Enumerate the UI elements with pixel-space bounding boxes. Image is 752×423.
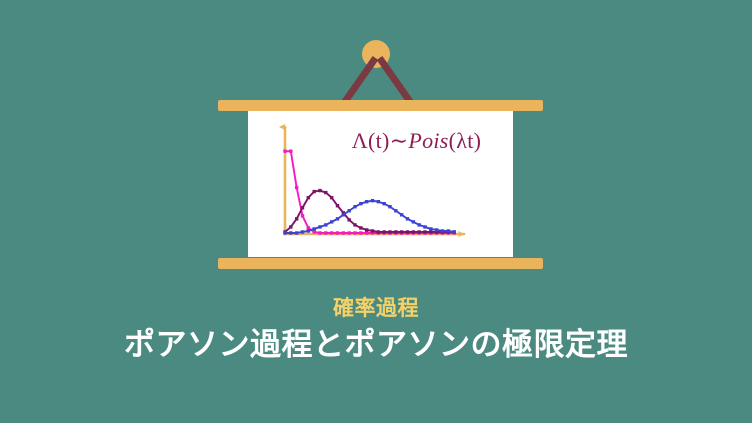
series-marker <box>447 229 450 232</box>
series-marker <box>353 223 356 226</box>
chart-series-2 <box>283 199 456 235</box>
series-marker <box>359 226 362 229</box>
series-marker <box>283 149 286 152</box>
series-marker <box>377 230 380 233</box>
series-marker <box>324 231 327 234</box>
series-marker <box>289 231 292 234</box>
caption-block: 確率過程 ポアソン過程とポアソンの極限定理 <box>0 296 752 365</box>
series-marker <box>394 209 397 212</box>
slide-subtitle: 確率過程 <box>0 296 752 322</box>
series-marker <box>417 223 420 226</box>
series-marker <box>388 205 391 208</box>
series-marker <box>342 213 345 216</box>
series-marker <box>417 230 420 233</box>
series-marker <box>307 226 310 229</box>
series-marker <box>295 231 298 234</box>
series-marker <box>377 200 380 203</box>
formula-tilde: ∼ <box>390 128 409 153</box>
series-marker <box>347 218 350 221</box>
series-marker <box>318 231 321 234</box>
series-marker <box>330 196 333 199</box>
series-marker <box>324 191 327 194</box>
series-line <box>285 151 454 233</box>
series-marker <box>347 209 350 212</box>
whiteboard-rail-bottom <box>218 258 543 269</box>
series-marker <box>342 231 345 234</box>
series-marker <box>301 230 304 233</box>
series-line <box>285 201 454 233</box>
series-marker <box>406 230 409 233</box>
series-marker <box>301 214 304 217</box>
formula-distribution: Pois <box>408 128 448 153</box>
poisson-pmf-chart: Λ(t)∼Pois(λt) <box>248 110 513 257</box>
chart-series-layer <box>283 149 456 234</box>
series-marker <box>423 230 426 233</box>
series-marker <box>318 225 321 228</box>
series-marker <box>336 217 339 220</box>
series-marker <box>295 217 298 220</box>
series-marker <box>423 225 426 228</box>
series-marker <box>330 231 333 234</box>
series-marker <box>394 230 397 233</box>
series-marker <box>353 231 356 234</box>
series-marker <box>429 227 432 230</box>
series-marker <box>324 223 327 226</box>
series-marker <box>359 202 362 205</box>
series-marker <box>365 231 368 234</box>
slide-card: Λ(t)∼Pois(λt) 確率過程 ポアソン過程とポアソンの極限定理 <box>0 0 752 423</box>
series-marker <box>289 149 292 152</box>
series-marker <box>307 196 310 199</box>
series-line <box>285 191 454 232</box>
series-marker <box>359 231 362 234</box>
board-formula: Λ(t)∼Pois(λt) <box>324 128 509 154</box>
easel-illustration: Λ(t)∼Pois(λt) <box>0 0 752 285</box>
series-marker <box>412 220 415 223</box>
series-marker <box>330 220 333 223</box>
series-marker <box>318 189 321 192</box>
series-marker <box>388 230 391 233</box>
series-marker <box>295 186 298 189</box>
series-marker <box>400 213 403 216</box>
series-marker <box>429 230 432 233</box>
series-marker <box>365 228 368 231</box>
easel-leg-left-icon <box>341 56 379 106</box>
series-marker <box>312 230 315 233</box>
series-marker <box>371 199 374 202</box>
formula-lambda-process: Λ(t) <box>352 128 390 153</box>
series-marker <box>353 205 356 208</box>
slide-title: ポアソン過程とポアソンの極限定理 <box>0 326 752 365</box>
chart-series-0 <box>283 149 456 234</box>
series-marker <box>301 206 304 209</box>
series-marker <box>312 190 315 193</box>
series-marker <box>312 227 315 230</box>
series-marker <box>336 231 339 234</box>
series-marker <box>289 225 292 228</box>
series-marker <box>441 229 444 232</box>
easel-leg-right-icon <box>377 56 415 106</box>
series-marker <box>406 217 409 220</box>
series-marker <box>347 231 350 234</box>
series-marker <box>307 229 310 232</box>
formula-argument: (λt) <box>449 128 482 153</box>
series-marker <box>336 204 339 207</box>
series-marker <box>435 228 438 231</box>
series-marker <box>283 231 286 234</box>
series-marker <box>412 230 415 233</box>
series-marker <box>452 230 455 233</box>
series-marker <box>365 200 368 203</box>
series-marker <box>371 229 374 232</box>
series-marker <box>382 202 385 205</box>
series-marker <box>382 230 385 233</box>
series-marker <box>400 230 403 233</box>
